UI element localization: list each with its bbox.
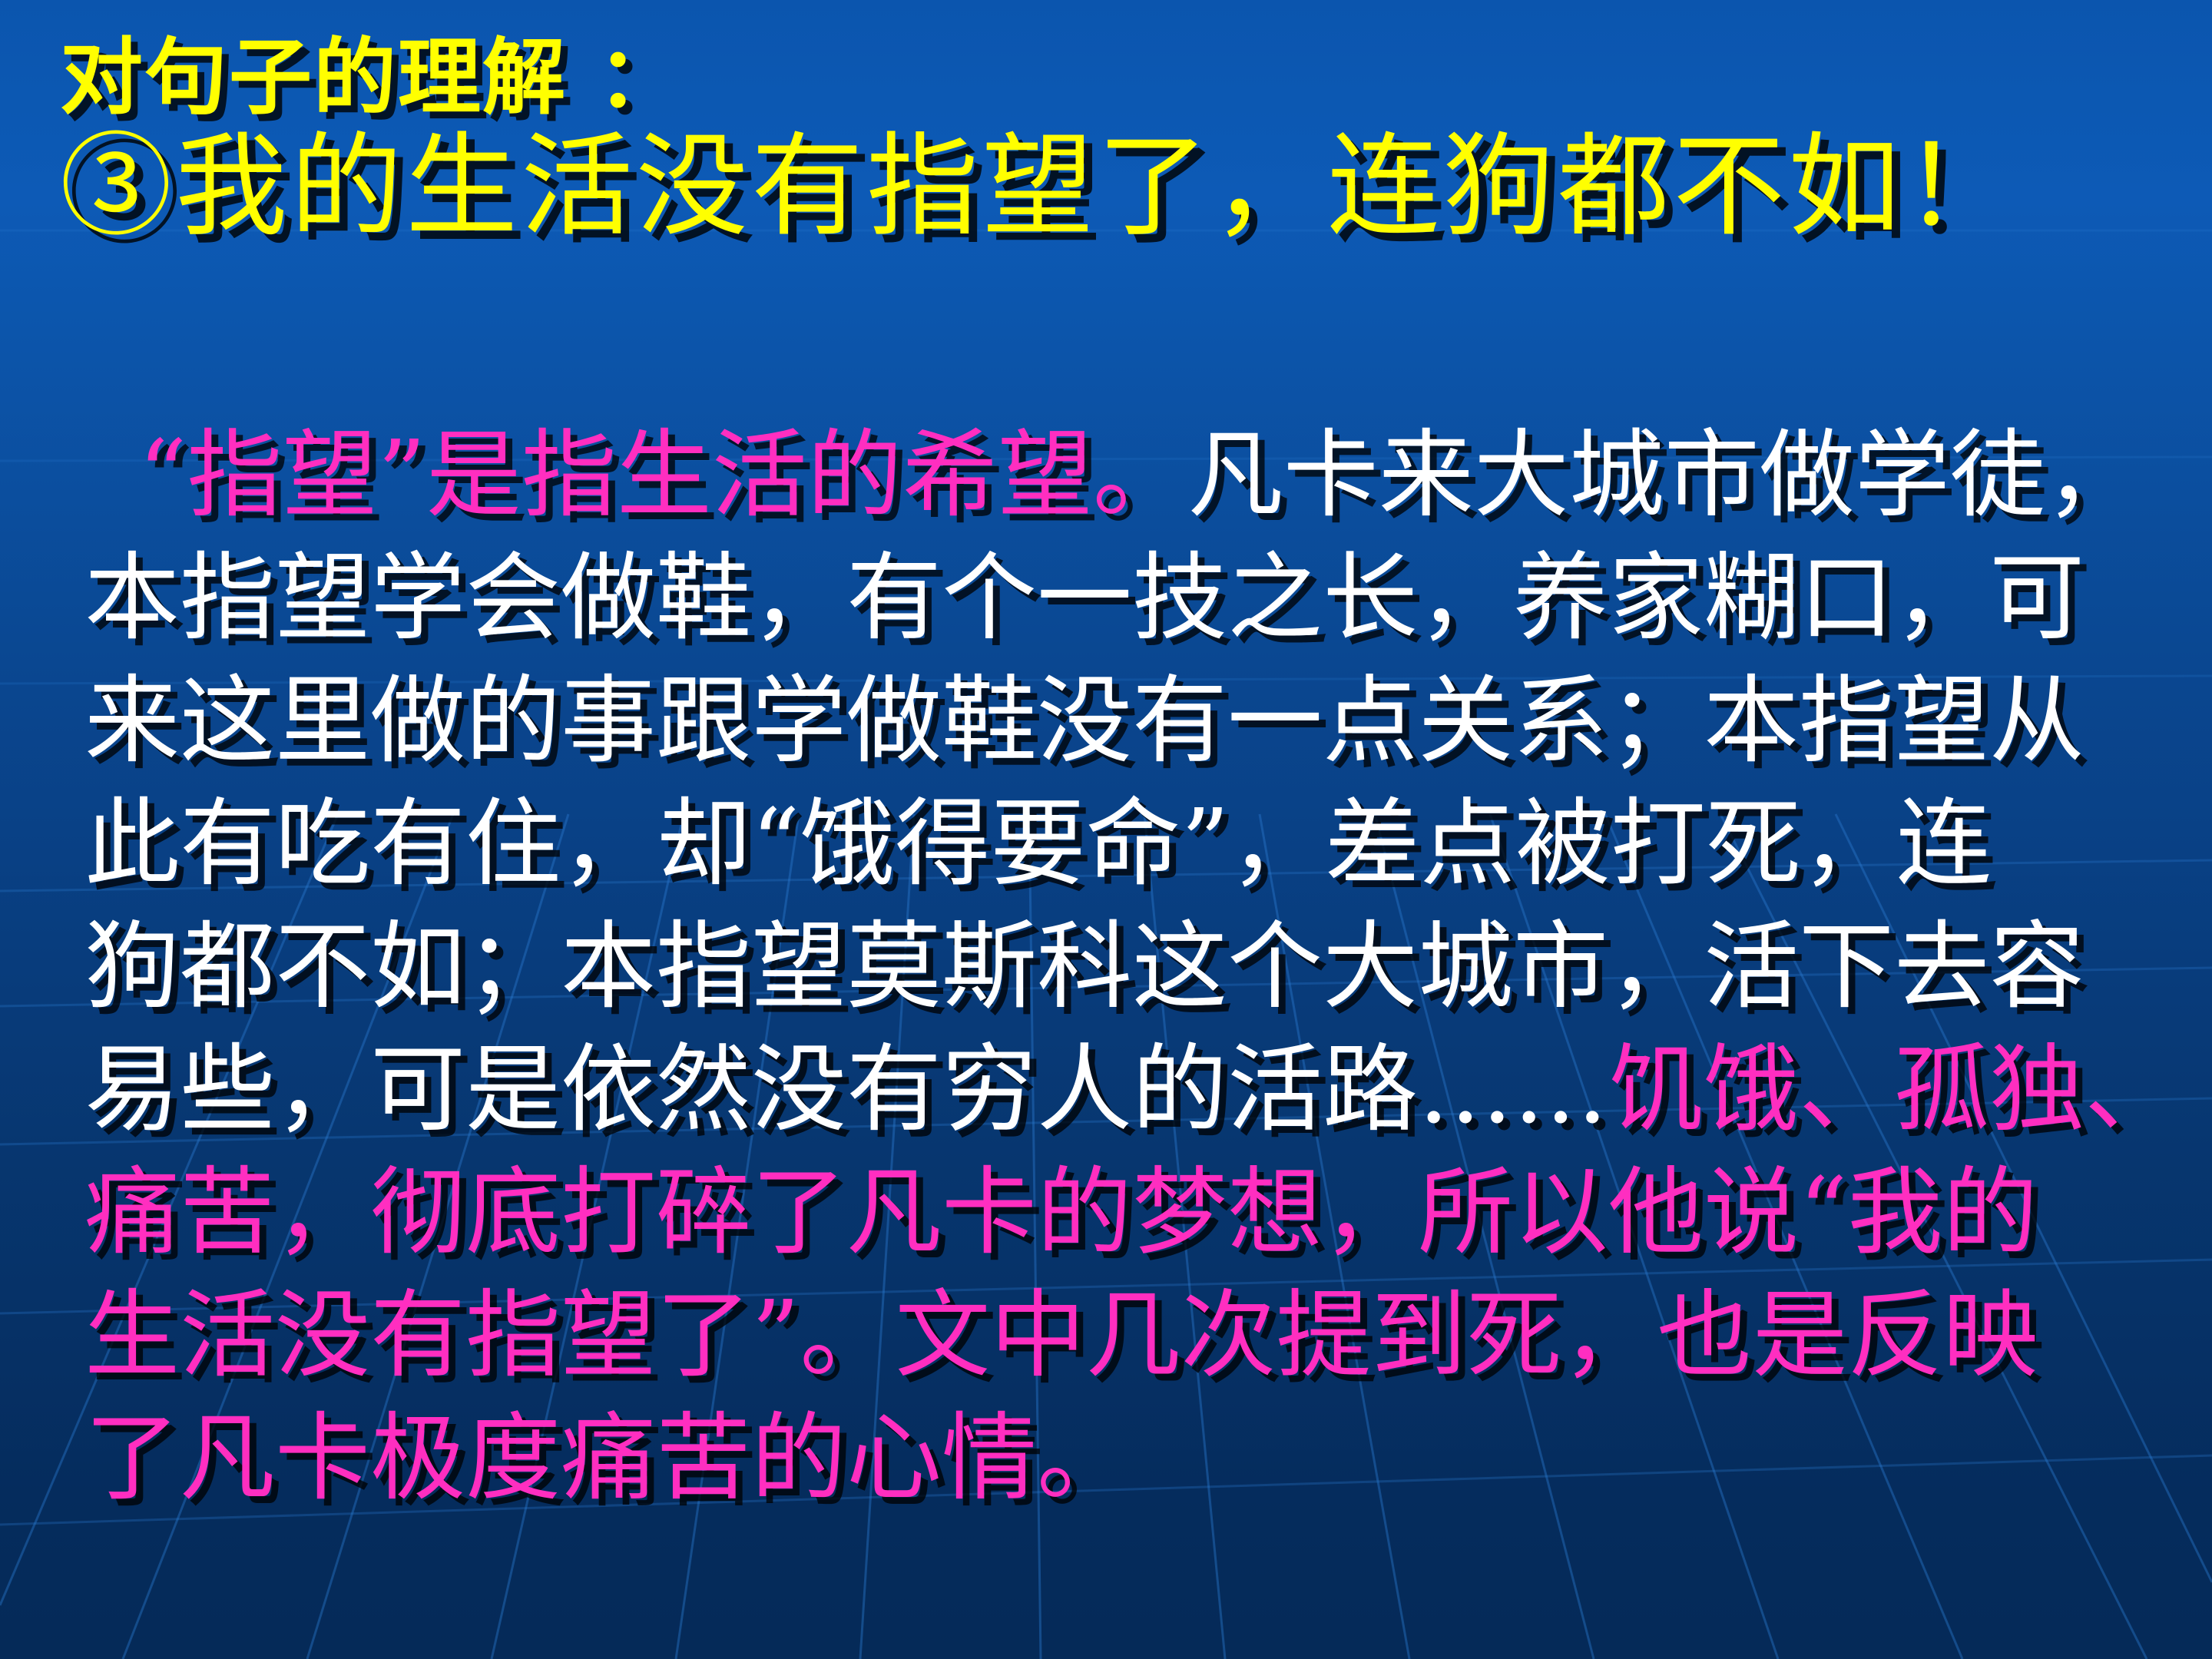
body-paragraph: “指望”是指生活的希望。凡卡来大城市做学徒，本指望学会做鞋，有个一技之长，养家糊… xyxy=(84,415,2181,1521)
body-line: 易些，可是依然没有穷人的活路……饥饿、孤独、 xyxy=(84,1029,2181,1152)
body-text-run-white: 此有吃有住，却“饿得要命”，差点被打死，连 xyxy=(84,789,1992,899)
slide-body-text: “指望”是指生活的希望。凡卡来大城市做学徒，本指望学会做鞋，有个一技之长，养家糊… xyxy=(0,415,2212,1521)
body-line: 生活没有指望了”。文中几次提到死，也是反映 xyxy=(84,1275,2181,1398)
body-line: 狗都不如；本指望莫斯科这个大城市，活下去容 xyxy=(84,906,2181,1029)
body-text-run-white: 来这里做的事跟学做鞋没有一点关系；本指望从 xyxy=(84,666,2085,777)
slide-title-block: 对句子的理解 ： ③我的生活没有指望了，连狗都不如！ xyxy=(0,0,2212,243)
body-text-run-magenta: 饥饿、孤独、 xyxy=(1608,1035,2180,1145)
body-line: 本指望学会做鞋，有个一技之长，养家糊口，可 xyxy=(84,538,2181,661)
body-text-run-white: 狗都不如；本指望莫斯科这个大城市，活下去容 xyxy=(84,912,2085,1022)
body-text-run-magenta: 生活没有指望了”。文中几次提到死，也是反映 xyxy=(84,1280,2038,1391)
page-title: 对句子的理解 ： xyxy=(0,0,2212,120)
body-text-run-white: 易些，可是依然没有穷人的活路…… xyxy=(84,1035,1608,1145)
body-text-run-magenta: 痛苦，彻底打碎了凡卡的梦想，所以他说“我的 xyxy=(84,1157,2038,1268)
body-line: 了凡卡极度痛苦的心情。 xyxy=(84,1398,2181,1521)
body-line: 此有吃有住，却“饿得要命”，差点被打死，连 xyxy=(84,783,2181,906)
body-line: 来这里做的事跟学做鞋没有一点关系；本指望从 xyxy=(84,661,2181,783)
page-subtitle: ③我的生活没有指望了，连狗都不如！ xyxy=(0,120,2212,243)
body-text-run-white: 凡卡来大城市做学徒， xyxy=(1188,420,2141,531)
body-text-run-magenta: 了凡卡极度痛苦的心情。 xyxy=(84,1403,1132,1514)
body-text-run-white: 本指望学会做鞋，有个一技之长，养家糊口，可 xyxy=(84,543,2085,654)
body-line: 痛苦，彻底打碎了凡卡的梦想，所以他说“我的 xyxy=(84,1152,2181,1275)
presentation-slide: 对句子的理解 ： ③我的生活没有指望了，连狗都不如！ “指望”是指生活的希望。凡… xyxy=(0,0,2212,1659)
body-line: “指望”是指生活的希望。凡卡来大城市做学徒， xyxy=(84,415,2181,538)
body-text-run-magenta: “指望”是指生活的希望。 xyxy=(138,420,1188,531)
